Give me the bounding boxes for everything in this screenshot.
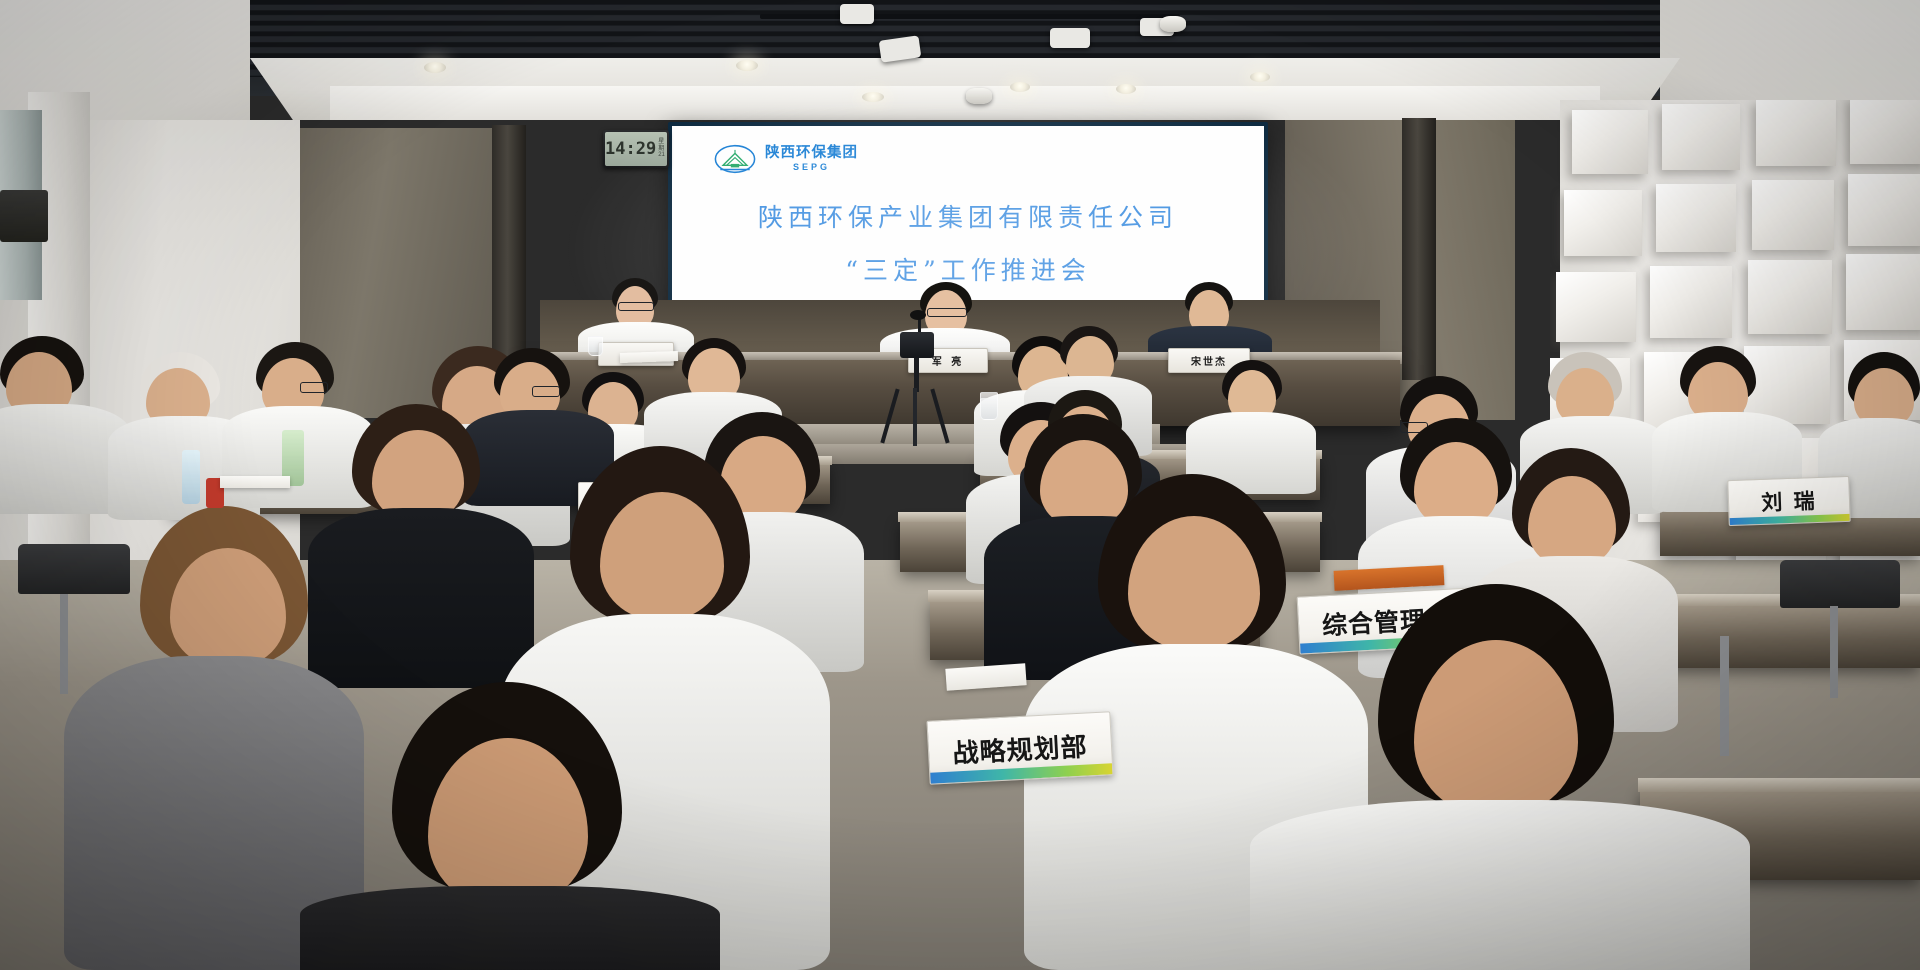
downlight-4: [1116, 84, 1136, 94]
downlight-2: [736, 60, 758, 71]
logo-text-en: SEPG: [765, 163, 858, 172]
ceiling-sensor-icon: [966, 88, 992, 104]
sepg-logo: 陕西环保集团 SEPG: [714, 144, 858, 174]
document-audience-left: [220, 476, 290, 488]
downlight-1: [424, 62, 446, 73]
wall-speaker: [0, 190, 48, 242]
eyeglasses-icon: [927, 308, 967, 317]
logo-text-cn: 陕西环保集团: [765, 146, 858, 161]
eyeglasses-icon: [532, 386, 560, 397]
light-track-bar: [760, 14, 1180, 19]
eyeglasses-icon: [618, 302, 654, 311]
screen-title-line1: 陕西环保产业集团有限责任公司: [672, 198, 1264, 234]
water-cup-left: [588, 336, 603, 356]
screen-pillar-right: [1402, 118, 1436, 380]
water-bottle-left: [182, 450, 200, 504]
eyeglasses-icon: [300, 382, 328, 393]
microphone-icon: [910, 310, 926, 320]
clock-side-info: 星期 21: [658, 139, 667, 160]
chair-leg-3: [1720, 636, 1729, 756]
clock-date-number: 21: [658, 152, 667, 159]
chair-leg-1: [60, 594, 68, 694]
chair-right-1: [1780, 560, 1900, 608]
chair-left-1: [18, 544, 130, 594]
audience-table-r4-right-edge: [1638, 778, 1920, 792]
nameplate-zhanlue-guihuabu: 战略规划部: [926, 711, 1113, 785]
document-left: [620, 351, 678, 363]
nameplate-liu-rui: 刘 瑞: [1727, 476, 1851, 526]
downlight-6: [862, 92, 884, 102]
water-cup-audience: [980, 392, 998, 420]
clock-lcd-display: 14:29 星期 21: [605, 132, 667, 166]
downlight-3: [1010, 82, 1030, 92]
clock-weekday: 星期: [658, 139, 667, 153]
wall-clock: 14:29 星期 21: [603, 130, 669, 168]
chair-leg-2: [1830, 606, 1838, 698]
conference-room-photo: 陕西环保集团 SEPG 陕西环保产业集团有限责任公司 “三定”工作推进会 202…: [0, 0, 1920, 970]
downlight-5: [1250, 72, 1270, 82]
screen-title-line2: “三定”工作推进会: [672, 251, 1264, 287]
track-light-1: [840, 4, 874, 24]
ceiling-soffit-inner: [330, 86, 1600, 120]
track-light-3: [1050, 28, 1090, 48]
video-camera-icon: [900, 332, 934, 358]
pagoda-emblem-icon: [714, 144, 756, 174]
smoke-detector-icon: [1160, 16, 1186, 32]
clock-time: 14:29: [605, 141, 656, 158]
